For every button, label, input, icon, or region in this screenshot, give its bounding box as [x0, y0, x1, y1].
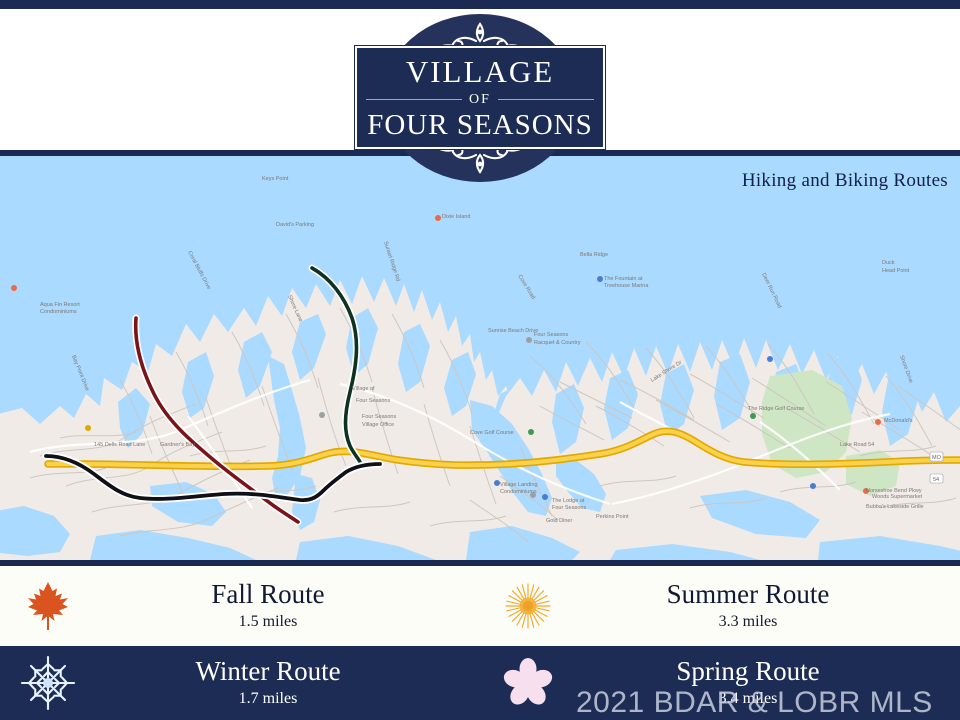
svg-text:Village Office: Village Office: [362, 422, 394, 428]
svg-text:Duck: Duck: [882, 260, 895, 266]
svg-text:Four Seasons: Four Seasons: [552, 505, 586, 511]
legend-item-winter[interactable]: Winter Route 1.7 miles: [0, 646, 480, 720]
legend-miles-spring: 3.4 miles: [719, 689, 778, 710]
svg-text:54: 54: [933, 477, 939, 483]
logo-title: Village: [406, 56, 554, 89]
svg-text:Bubba's Lakeside Grille: Bubba's Lakeside Grille: [866, 504, 924, 510]
svg-text:Woods Supermarket: Woods Supermarket: [872, 494, 923, 500]
map-graphic: Keys Point David's Parking Dixie Island …: [0, 156, 960, 560]
svg-text:Perkins Point: Perkins Point: [596, 514, 629, 520]
legend-name-spring: Spring Route: [676, 656, 819, 686]
map-poster: Keys Point David's Parking Dixie Island …: [0, 0, 960, 720]
map-title: Hiking and Biking Routes: [742, 170, 948, 192]
top-divider-bar: [0, 0, 960, 12]
maple-leaf-icon: [0, 566, 96, 646]
svg-text:Gardner's Bay: Gardner's Bay: [160, 442, 195, 448]
legend-item-summer[interactable]: Summer Route 3.3 miles: [480, 566, 960, 646]
logo-of-text: OF: [462, 92, 498, 108]
svg-text:Four Seasons: Four Seasons: [356, 398, 390, 404]
logo-subtitle: Four Seasons: [367, 111, 593, 140]
legend-miles-summer: 3.3 miles: [719, 612, 778, 633]
legend-name-fall: Fall Route: [211, 579, 324, 609]
logo-plate: Village OF Four Seasons: [355, 46, 605, 149]
logo-rule-left: [366, 99, 462, 100]
svg-text:MO: MO: [932, 455, 942, 461]
map-canvas[interactable]: Keys Point David's Parking Dixie Island …: [0, 156, 960, 560]
logo-rule-right: [498, 99, 594, 100]
legend-miles-winter: 1.7 miles: [239, 689, 298, 710]
svg-text:Aqua Fin Resort: Aqua Fin Resort: [40, 302, 80, 308]
cherry-blossom-icon: [480, 646, 576, 720]
svg-text:Four Seasons: Four Seasons: [534, 332, 568, 338]
svg-text:Treehouse Marina: Treehouse Marina: [604, 283, 649, 289]
svg-text:Gold Diner: Gold Diner: [546, 518, 572, 524]
sun-icon: [480, 566, 576, 646]
legend-text-summer: Summer Route 3.3 miles: [576, 579, 960, 633]
svg-text:Racquet & Country: Racquet & Country: [534, 340, 581, 346]
village-logo: Village OF Four Seasons: [355, 14, 605, 174]
svg-text:145 Dells Road Lane: 145 Dells Road Lane: [94, 442, 145, 448]
svg-text:The Fountain at: The Fountain at: [604, 276, 643, 282]
svg-text:McDonald's: McDonald's: [884, 418, 913, 424]
svg-text:Cove Golf Course: Cove Golf Course: [470, 430, 514, 436]
logo-of-row: OF: [366, 92, 594, 108]
legend-name-winter: Winter Route: [195, 656, 340, 686]
svg-text:Lake Road 54: Lake Road 54: [840, 442, 874, 448]
legend-item-fall[interactable]: Fall Route 1.5 miles: [0, 566, 480, 646]
svg-text:Village of: Village of: [352, 386, 375, 392]
svg-text:Village Landing: Village Landing: [500, 482, 538, 488]
svg-text:Head Point: Head Point: [882, 268, 910, 274]
svg-text:Four Seasons: Four Seasons: [362, 414, 396, 420]
legend-item-spring[interactable]: Spring Route 3.4 miles: [480, 646, 960, 720]
svg-text:Sunrise Beach Drive: Sunrise Beach Drive: [488, 328, 538, 334]
svg-text:Bella Ridge: Bella Ridge: [580, 252, 608, 258]
svg-text:Condominiums: Condominiums: [500, 489, 537, 495]
legend-row-light: Fall Route 1.5 miles: [0, 566, 960, 646]
legend-name-summer: Summer Route: [667, 579, 830, 609]
svg-text:Dixie Island: Dixie Island: [442, 214, 470, 220]
legend-text-fall: Fall Route 1.5 miles: [96, 579, 480, 633]
legend-miles-fall: 1.5 miles: [239, 612, 298, 633]
snowflake-icon: [0, 646, 96, 720]
svg-text:The Lodge at: The Lodge at: [552, 498, 585, 504]
legend-text-spring: Spring Route 3.4 miles: [576, 656, 960, 710]
legend-text-winter: Winter Route 1.7 miles: [96, 656, 480, 710]
svg-text:Condominiums: Condominiums: [40, 309, 77, 315]
svg-text:David's Parking: David's Parking: [276, 222, 314, 228]
svg-text:The Ridge Golf Course: The Ridge Golf Course: [748, 406, 804, 412]
svg-text:Keys Point: Keys Point: [262, 176, 289, 182]
legend-row-dark: Winter Route 1.7 miles: [0, 646, 960, 720]
